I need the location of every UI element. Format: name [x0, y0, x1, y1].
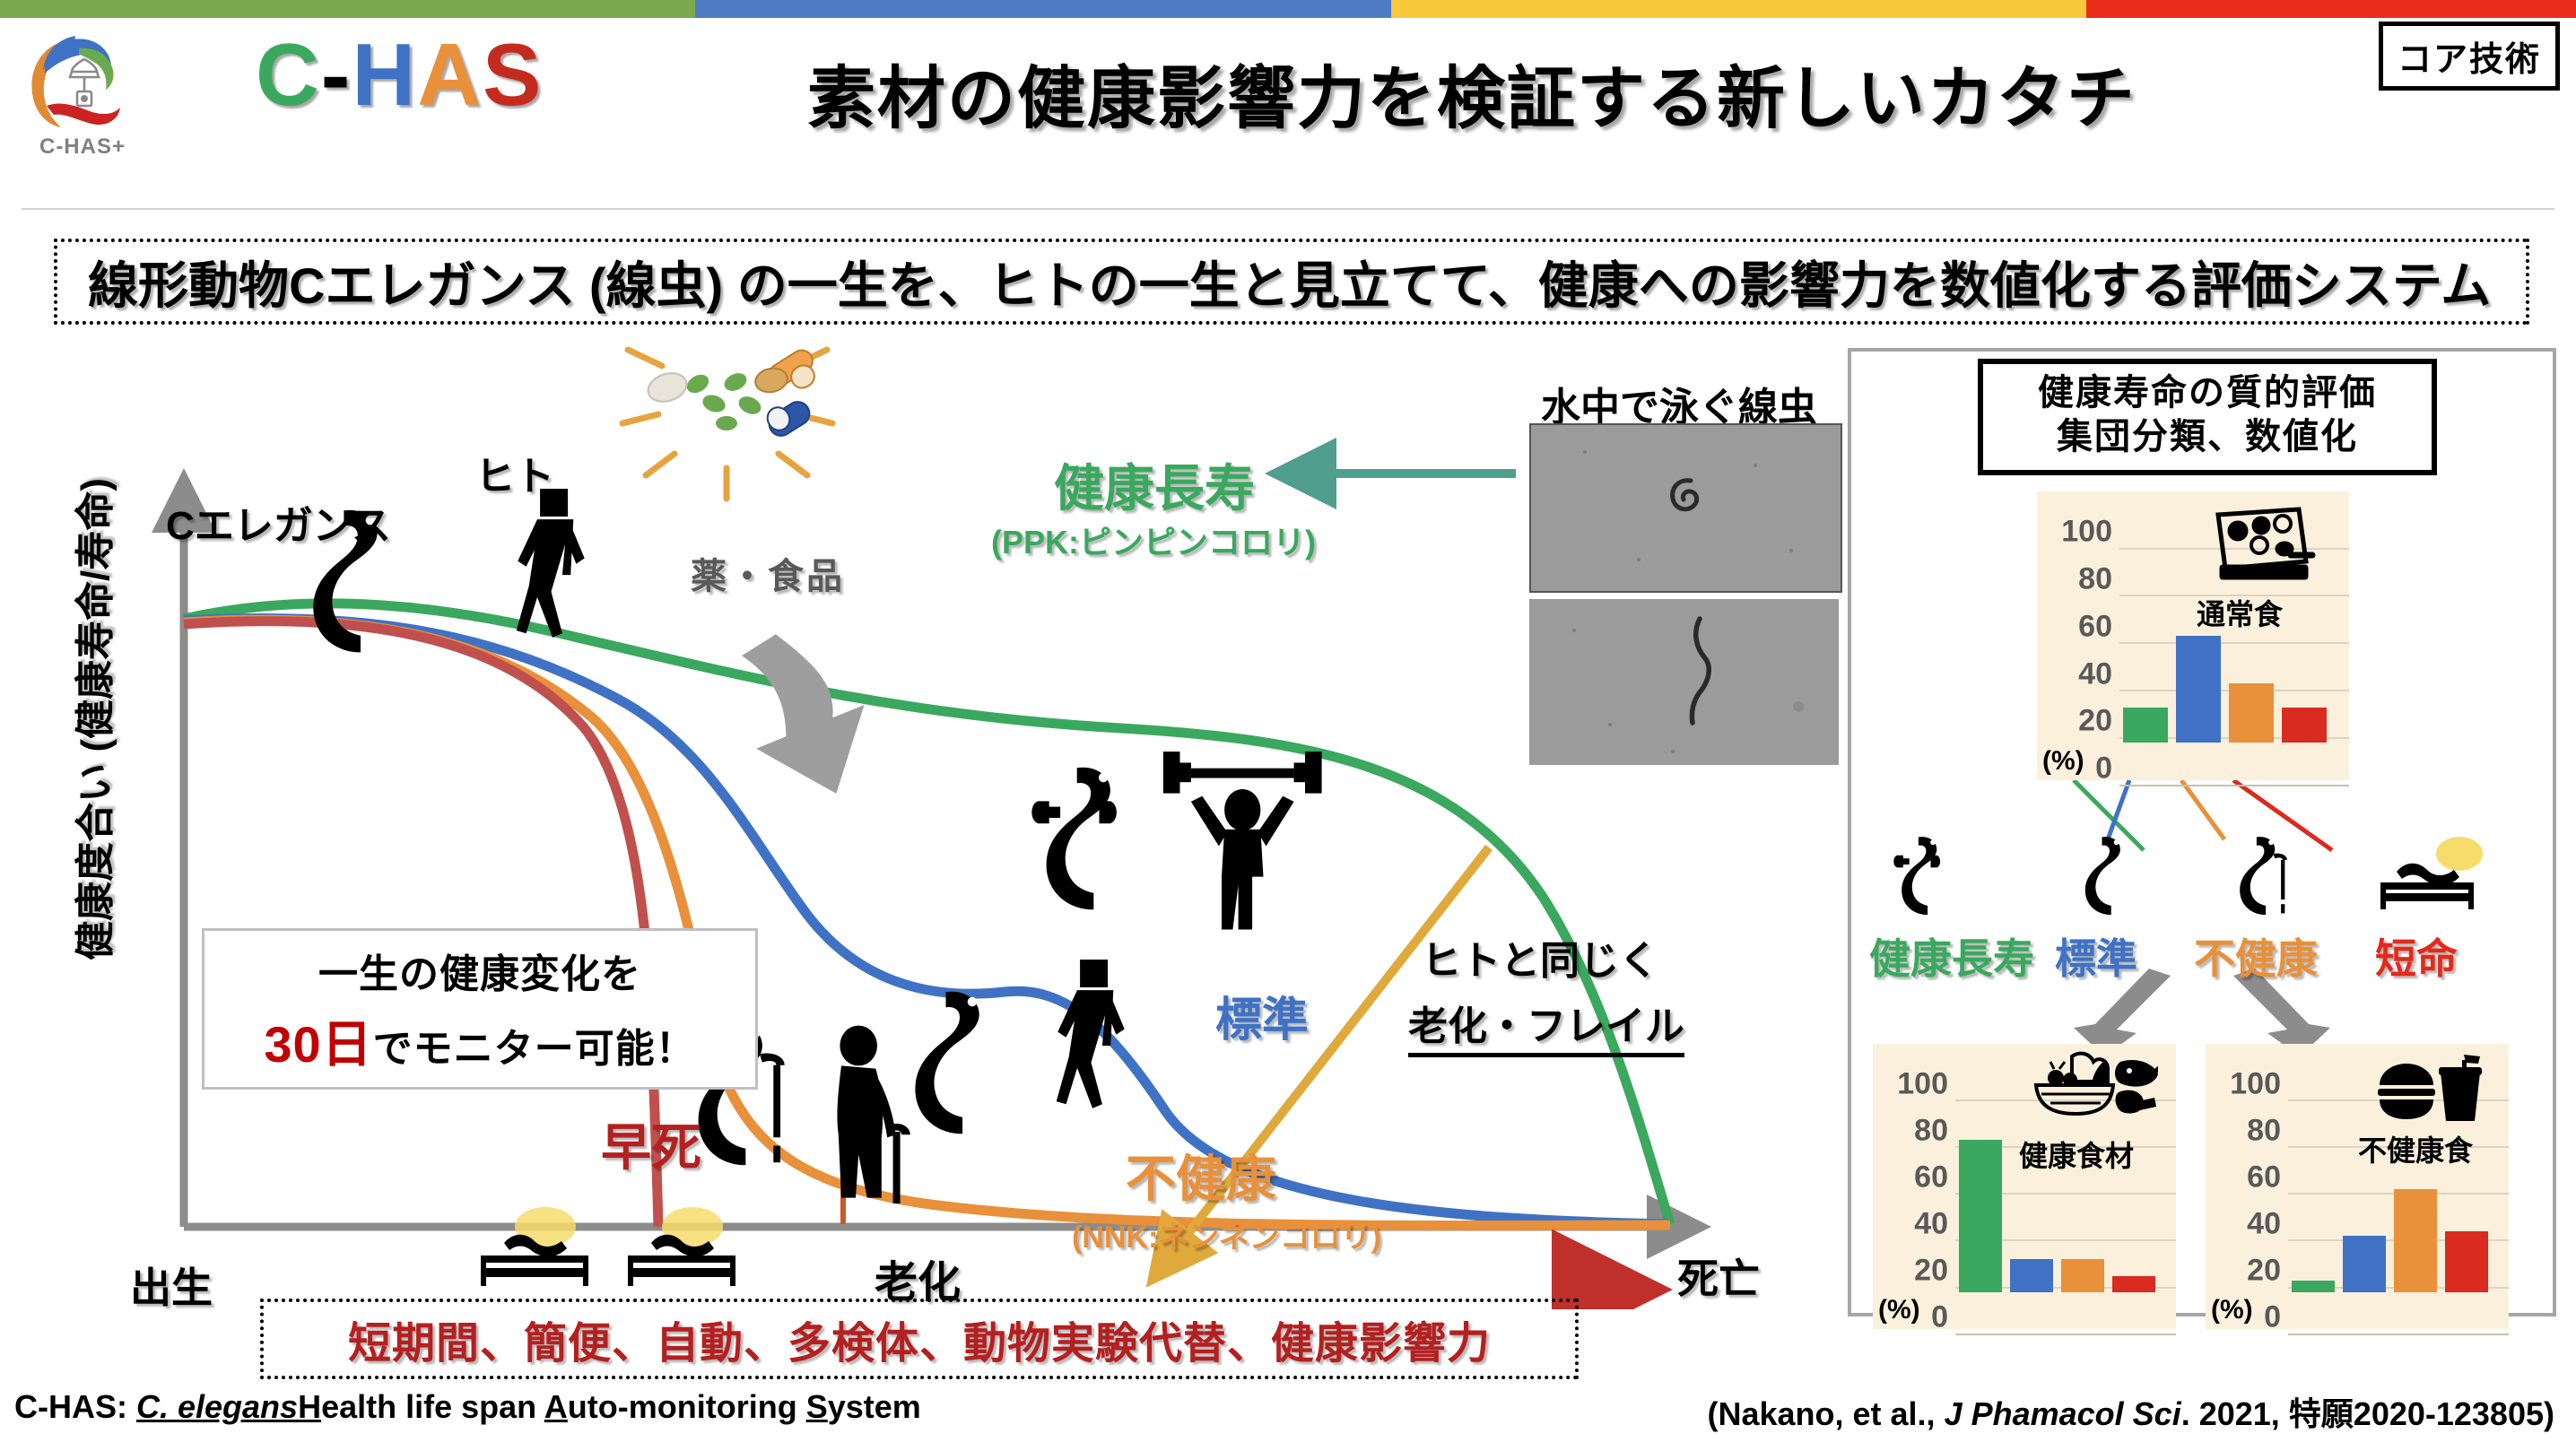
monitor-line1: 一生の健康変化を [318, 942, 641, 999]
ytick: 80 [2037, 561, 2119, 596]
brand-letter-S: S [483, 25, 543, 124]
micrograph-panel-swimming [1529, 599, 1839, 765]
bar-chart-unhealthy-food: 100 80 60 40 20 0 (%) 不健康食 [2206, 1044, 2509, 1329]
vegetable-basket-fish-icon [2023, 1051, 2158, 1128]
citation-journal: J Phamacol Sci [1945, 1395, 2181, 1432]
label-human: ヒト [475, 444, 554, 501]
worm-muscle-icon [1893, 834, 1970, 933]
abbrev-s: S [806, 1388, 828, 1425]
monitor-line2: 30日でモニター可能！ [264, 1004, 695, 1077]
citation-post: . 2021, 特願2020-123805) [2181, 1395, 2554, 1432]
label-unhealthy: 不健康 [1126, 1139, 1276, 1212]
brand-letter-H: H [352, 25, 417, 124]
ytick: 80 [1873, 1113, 1955, 1148]
label-aging-note-line2: 老化・フレイル [1408, 994, 1684, 1057]
bar-normal-diet-0 [2123, 708, 2168, 743]
brand-letter-A: A [417, 25, 483, 124]
ytick: 60 [2206, 1160, 2288, 1195]
x-axis-label-birth: 出生 [130, 1256, 213, 1315]
top-bar-segment-green [0, 0, 695, 18]
top-color-bar [0, 0, 2576, 18]
bar-unhealthy-food-1 [2343, 1236, 2386, 1292]
ytick: 100 [2206, 1066, 2288, 1101]
label-early-death: 早死 [601, 1108, 701, 1180]
ytick: 20 [2037, 704, 2119, 739]
category-label-healthy-longevity: 健康長寿 [1869, 926, 2034, 986]
category-label-short-life: 短命 [2375, 926, 2458, 986]
abbrev-system: ystem [828, 1388, 921, 1425]
bar-healthy-food-3 [2112, 1276, 2155, 1292]
ytick: 40 [1873, 1206, 1955, 1241]
chart-title-unhealthy-food: 不健康食 [2358, 1128, 2473, 1169]
citation: (Nakano, et al., J Phamacol Sci. 2021, 特… [1707, 1388, 2554, 1435]
top-bar-segment-blue [695, 0, 1390, 18]
bar-normal-diet-1 [2176, 636, 2221, 743]
bar-normal-diet-2 [2229, 683, 2274, 743]
monitor-callout-box: 一生の健康変化を 30日でモニター可能！ [202, 928, 758, 1090]
worm-bed-icon [2377, 834, 2493, 933]
top-bar-segment-yellow [1391, 0, 2086, 18]
bar-healthy-food-1 [2010, 1259, 2053, 1292]
abbrev-prefix: C-HAS: [14, 1388, 136, 1425]
ytick: 60 [2037, 609, 2119, 644]
chart-title-healthy-food: 健康食材 [2019, 1134, 2134, 1175]
ytick: 100 [1873, 1066, 1955, 1101]
burger-drink-icon [2376, 1055, 2482, 1126]
ytick: 20 [1873, 1254, 1955, 1289]
citation-pre: (Nakano, et al., [1707, 1395, 1944, 1432]
bar-unhealthy-food-3 [2445, 1231, 2488, 1292]
worm-normal-icon [2079, 834, 2142, 933]
chart-title-normal-diet: 通常食 [2197, 592, 2283, 633]
footer-benefits-banner: 短期間、簡便、自動、多検体、動物実験代替、健康影響力 [260, 1299, 1579, 1379]
header-divider [22, 208, 2554, 210]
subtitle-banner: 線形動物Cエレガンス (線虫) の一生を、ヒトの一生と見立てて、健康への影響力を… [54, 239, 2529, 325]
ytick: 40 [2206, 1206, 2288, 1241]
abbrev-a: A [544, 1388, 568, 1425]
bar-healthy-food-2 [2061, 1259, 2104, 1292]
page-title: 素材の健康影響力を検証する新しいカタチ [807, 43, 2137, 142]
label-c-elegans: Cエレガンス [166, 493, 391, 551]
bar-chart-healthy-food: 100 80 60 40 20 0 (%) 健康食材 [1873, 1044, 2176, 1329]
y-unit-label: (%) [2211, 1295, 2253, 1325]
y-unit-label: (%) [2042, 746, 2084, 777]
abbrev-species: C. elegans [136, 1388, 298, 1425]
bento-icon [2206, 502, 2317, 588]
subtitle-text: 線形動物Cエレガンス (線虫) の一生を、ヒトの一生と見立てて、健康への影響力を… [57, 246, 2491, 318]
label-ppk-sub: (PPK:ピンピンコロリ) [991, 517, 1316, 563]
monitor-line2-rest: でモニター可能！ [373, 1027, 696, 1071]
top-bar-segment-red [2086, 0, 2576, 18]
bar-chart-normal-diet: 100 80 60 40 20 0 (%) 通常食 [2037, 491, 2349, 780]
y-axis-label: 健康度合い (健康寿命/寿命) [63, 468, 120, 970]
ytick: 40 [2037, 656, 2119, 691]
brand-c-has: C-HAS [256, 30, 543, 118]
monitor-days-emphasis: 30日 [264, 1016, 372, 1073]
ytick: 80 [2206, 1113, 2288, 1148]
abbreviation-legend: C-HAS: C. elegansHealth life span Auto-m… [14, 1388, 921, 1426]
abbrev-health: ealth life span [321, 1388, 544, 1425]
category-label-unhealthy: 不健康 [2194, 926, 2318, 986]
logo-caption: C-HAS+ [20, 135, 145, 160]
y-unit-label: (%) [1878, 1295, 1920, 1325]
x-axis-label-death: 死亡 [1677, 1247, 1760, 1306]
ytick: 100 [2037, 515, 2119, 550]
ytick: 60 [1873, 1160, 1955, 1195]
c-has-logo-icon [20, 27, 145, 135]
bar-unhealthy-food-0 [2292, 1281, 2335, 1292]
label-aging-note-line1: ヒトと同じく [1422, 928, 1658, 986]
category-label-standard: 標準 [2055, 926, 2137, 986]
bar-unhealthy-food-2 [2394, 1189, 2437, 1292]
micrograph-panel-coiled [1529, 423, 1842, 593]
brand-letter-C: C [256, 25, 321, 124]
bar-healthy-food-0 [1959, 1140, 2002, 1292]
footer-benefits-text: 短期間、簡便、自動、多検体、動物実験代替、健康影響力 [348, 1308, 1491, 1370]
abbrev-auto: uto-monitoring [568, 1388, 806, 1425]
label-nnk-sub: (NNK:ネンネンコロリ) [1072, 1212, 1381, 1256]
core-technology-badge: コア技術 [2379, 22, 2560, 91]
label-drug-food: 薬・食品 [691, 547, 845, 599]
label-healthy-longevity: 健康長寿 [1054, 448, 1255, 521]
brand-letter--: - [321, 25, 352, 124]
abbrev-h: H [298, 1388, 321, 1425]
ytick: 20 [2206, 1254, 2288, 1289]
worm-cane-icon [2231, 834, 2302, 937]
label-standard: 標準 [1215, 982, 1309, 1049]
bar-normal-diet-3 [2282, 708, 2327, 743]
